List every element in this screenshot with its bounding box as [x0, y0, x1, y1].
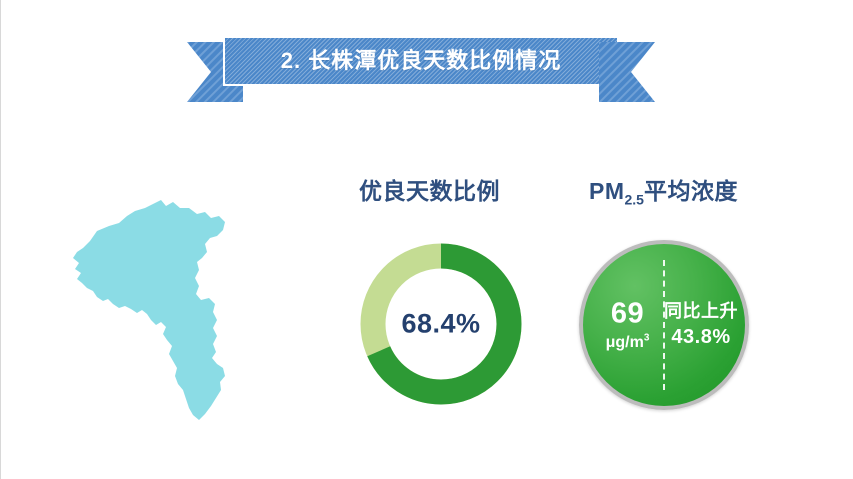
pm25-concentration-value: 69: [589, 298, 666, 330]
good-days-donut-chart: 68.4%: [351, 234, 531, 414]
region-map-shape: [73, 200, 225, 420]
pm25-panel-title: PM2.5平均浓度: [589, 180, 738, 207]
region-map: [53, 196, 283, 426]
pm25-change-label: 同比上升: [661, 301, 741, 321]
good-days-panel-title: 优良天数比例: [359, 180, 500, 203]
pm25-unit-exponent: 3: [644, 333, 650, 344]
banner-title: 2. 长株潭优良天数比例情况: [281, 50, 561, 72]
pm25-title-prefix: PM: [589, 178, 625, 204]
section-banner: 2. 长株潭优良天数比例情况: [187, 36, 655, 102]
pm25-change-group: 同比上升 43.8%: [661, 301, 741, 349]
ribbon-tail-right-icon: [599, 42, 655, 102]
pm25-value-circle: 69 μg/m3 同比上升 43.8%: [579, 240, 749, 410]
pm25-change-value: 43.8%: [661, 326, 741, 348]
ribbon-center-band: 2. 长株潭优良天数比例情况: [223, 36, 619, 86]
good-days-center-value: 68.4%: [351, 311, 531, 338]
pm25-title-subscript: 2.5: [625, 192, 644, 208]
pm25-title-suffix: 平均浓度: [644, 178, 738, 204]
slide-canvas: 2. 长株潭优良天数比例情况 优良天数比例: [0, 0, 853, 479]
pm25-concentration-group: 69 μg/m3: [589, 298, 666, 353]
pm25-concentration-unit: μg/m3: [589, 333, 666, 352]
pm25-unit-base: μg/m: [606, 334, 644, 351]
